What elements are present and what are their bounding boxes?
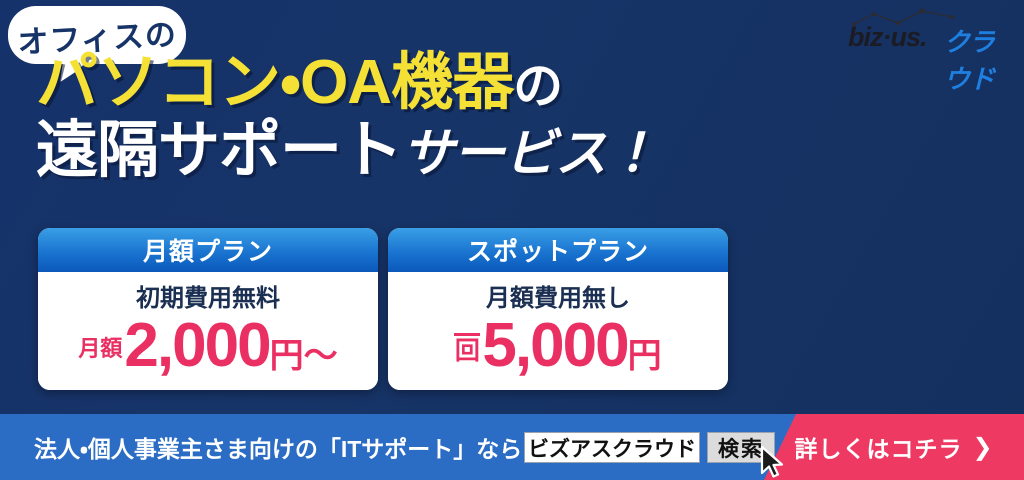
search-input[interactable]: ビズアスクラウド [524,432,700,463]
plan-cards: 月額プラン 初期費用無料 月額 2,000 円〜 スポットプラン 月額費用無し [38,228,728,390]
brand-logo[interactable]: biz·us. クラウド [848,8,1016,52]
plan-unit-label: 回 [454,333,480,365]
plan-unit-label: 月額 [78,338,122,360]
plan-card-spot[interactable]: スポットプラン 月額費用無し 回 5,000 円 [388,228,728,390]
plan-unit-bar [454,333,480,336]
plan-unit-text: 回 [455,339,480,365]
logo-wordmark: biz·us. [848,22,927,53]
plan-note: 月額費用無し [388,278,728,313]
headline: パソコン・OA機器の 遠隔サポートサービス！ [36,52,736,182]
plan-card-body: 初期費用無料 月額 2,000 円〜 [38,272,378,390]
chevron-right-icon: ❯ [972,433,993,462]
plan-note: 初期費用無料 [38,278,378,313]
plan-suffix: 円〜 [270,339,338,373]
plan-card-header: スポットプラン [388,228,728,272]
headline-line-2: 遠隔サポートサービス！ [36,120,736,182]
ad-banner: biz·us. クラウド オフィスの パソコン・OA機器の 遠隔サポートサービス… [0,0,1024,480]
headline-particle: の [513,58,562,114]
plan-card-body: 月額費用無し 回 5,000 円 [388,272,728,390]
plan-suffix: 円 [628,339,662,373]
cta-label: 詳しくはコチラ [794,430,962,464]
logo-cloud-label: クラウド [944,22,1016,96]
plan-amount: 5,000 [482,315,627,377]
plan-unit-text: 月額 [78,338,122,360]
cta-link[interactable]: 詳しくはコチラ ❯ [764,414,1024,480]
plan-price: 回 5,000 円 [388,315,728,377]
headline-highlight: パソコン・OA機器 [36,48,513,117]
headline-service-sub: サービス！ [402,125,657,183]
headline-service-main: 遠隔サポート [36,116,402,185]
headline-line-1: パソコン・OA機器の [36,52,736,114]
plan-price: 月額 2,000 円〜 [38,315,378,377]
plan-card-monthly[interactable]: 月額プラン 初期費用無料 月額 2,000 円〜 [38,228,378,390]
plan-card-header: 月額プラン [38,228,378,272]
footer-tagline: 法人・個人事業主さま向けの「ITサポート」なら [34,414,522,480]
footer-bar: 法人・個人事業主さま向けの「ITサポート」なら ビズアスクラウド 検索 詳しくは… [0,414,1024,480]
search-widget[interactable]: ビズアスクラウド 検索 [524,432,775,463]
plan-amount: 2,000 [124,315,269,377]
